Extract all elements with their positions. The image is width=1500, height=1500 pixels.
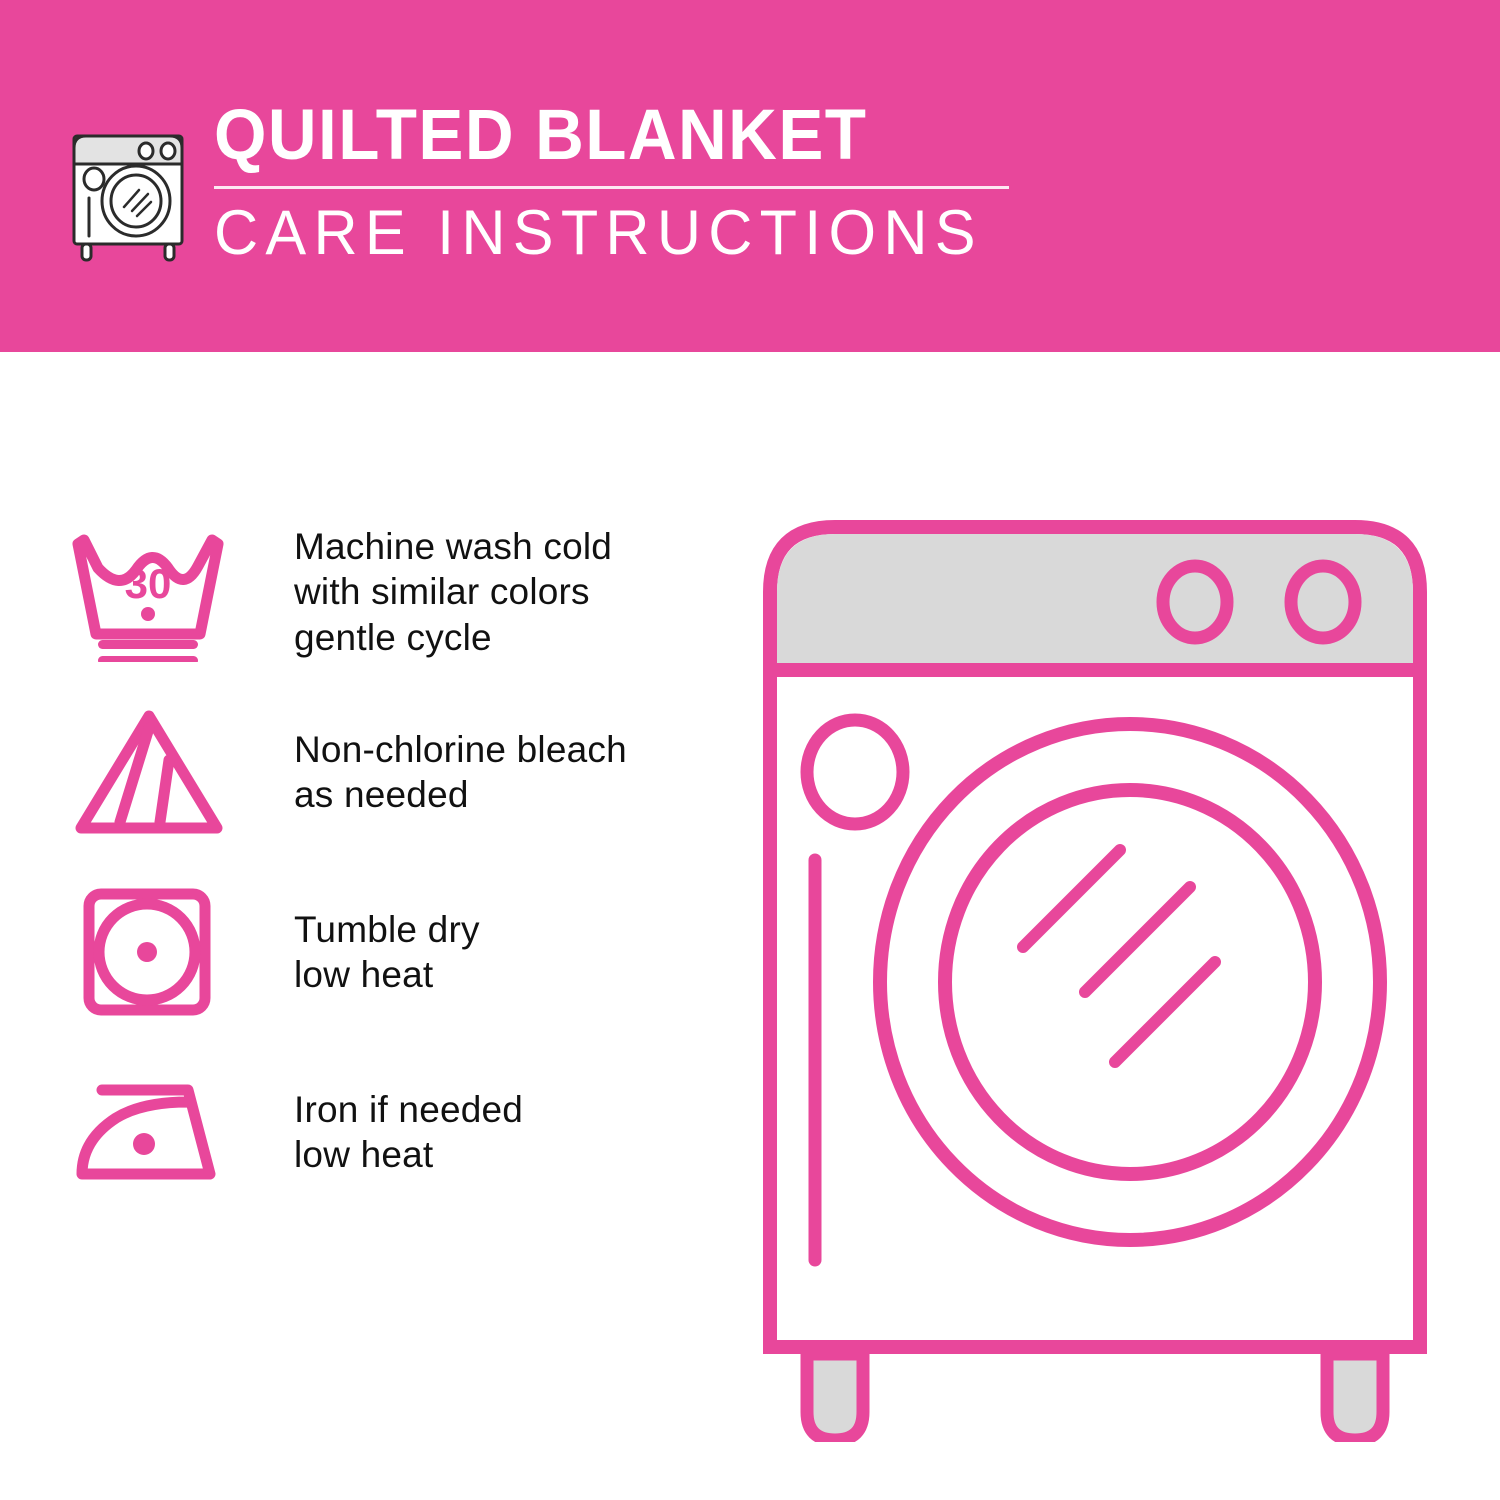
- title-divider: [214, 186, 1009, 189]
- door-inner-ring: [945, 790, 1315, 1174]
- bleach-triangle-icon: [64, 702, 239, 842]
- washing-machine-illustration: [735, 492, 1455, 1442]
- foot-right: [1327, 1354, 1383, 1440]
- washing-machine-icon: [64, 112, 192, 262]
- list-item-label: Iron if needed low heat: [239, 1087, 523, 1177]
- foot-left: [807, 1354, 863, 1440]
- knob-right-icon: [1291, 566, 1355, 638]
- knob-left-icon: [1163, 566, 1227, 638]
- wash-temperature-label: 30: [125, 560, 172, 607]
- content-area: 30 Machine wash cold with similar colors…: [0, 352, 1500, 1500]
- list-item-label: Tumble dry low heat: [239, 907, 480, 997]
- list-item: Iron if needed low heat: [64, 1042, 704, 1222]
- care-instruction-list: 30 Machine wash cold with similar colors…: [64, 502, 704, 1222]
- page-title: QUILTED BLANKET: [214, 100, 974, 171]
- tumble-dry-square-icon: [64, 882, 239, 1022]
- header-content: QUILTED BLANKET CARE INSTRUCTIONS: [64, 100, 1014, 265]
- wash-tub-30-icon: 30: [64, 522, 239, 662]
- list-item-label: Non-chlorine bleach as needed: [239, 727, 627, 817]
- list-item-label: Machine wash cold with similar colors ge…: [239, 524, 612, 659]
- header-banner: QUILTED BLANKET CARE INSTRUCTIONS: [0, 0, 1500, 352]
- title-block: QUILTED BLANKET CARE INSTRUCTIONS: [214, 100, 1014, 265]
- list-item: 30 Machine wash cold with similar colors…: [64, 502, 704, 682]
- iron-icon: [64, 1062, 239, 1202]
- page-subtitle: CARE INSTRUCTIONS: [214, 202, 990, 265]
- list-item: Tumble dry low heat: [64, 862, 704, 1042]
- detail-circle-icon: [807, 720, 903, 824]
- list-item: Non-chlorine bleach as needed: [64, 682, 704, 862]
